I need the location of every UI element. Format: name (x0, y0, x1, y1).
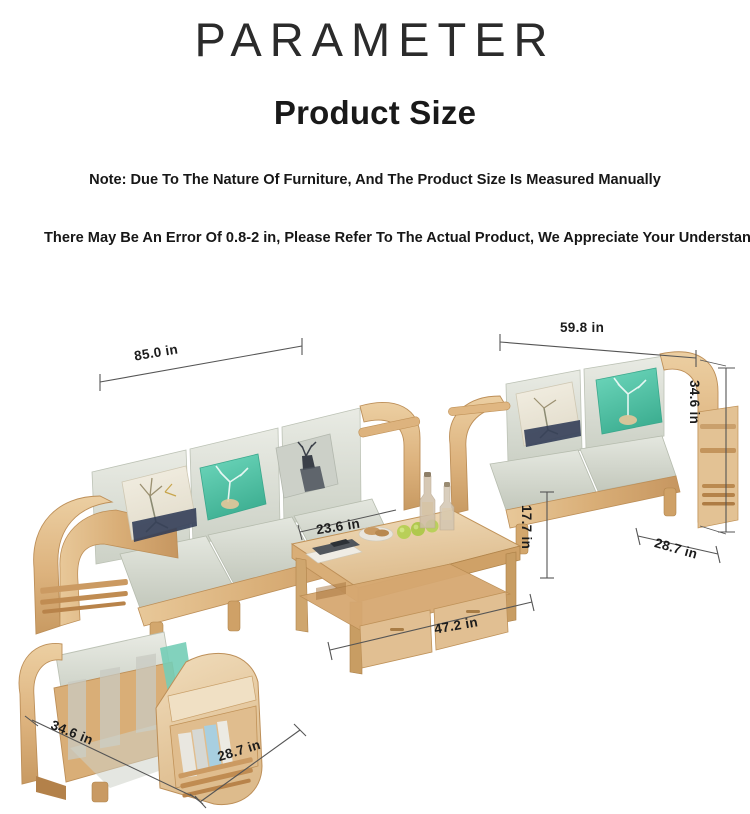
page-title: PARAMETER (0, 14, 750, 66)
product-size-page: PARAMETER Product Size Note: Due To The … (0, 0, 750, 814)
pillow-teal-coral (596, 368, 662, 434)
dimension-sofa-width (100, 338, 302, 391)
table-plate (359, 527, 393, 541)
pillow-cream-tree-deer (516, 382, 581, 447)
note-line-1: Note: Due To The Nature Of Furniture, An… (0, 172, 750, 188)
furniture-illustration (0, 296, 750, 814)
dimension-label-loveseat-seat-height: 17.7 in (519, 505, 534, 549)
note-line-2: There May Be An Error Of 0.8-2 in, Pleas… (44, 230, 750, 246)
page-subtitle: Product Size (0, 94, 750, 132)
header-section: PARAMETER Product Size Note: Due To The … (0, 0, 750, 300)
dimension-label-loveseat-height: 34.6 in (687, 380, 702, 424)
dimension-label-loveseat-width: 59.8 in (560, 320, 604, 335)
